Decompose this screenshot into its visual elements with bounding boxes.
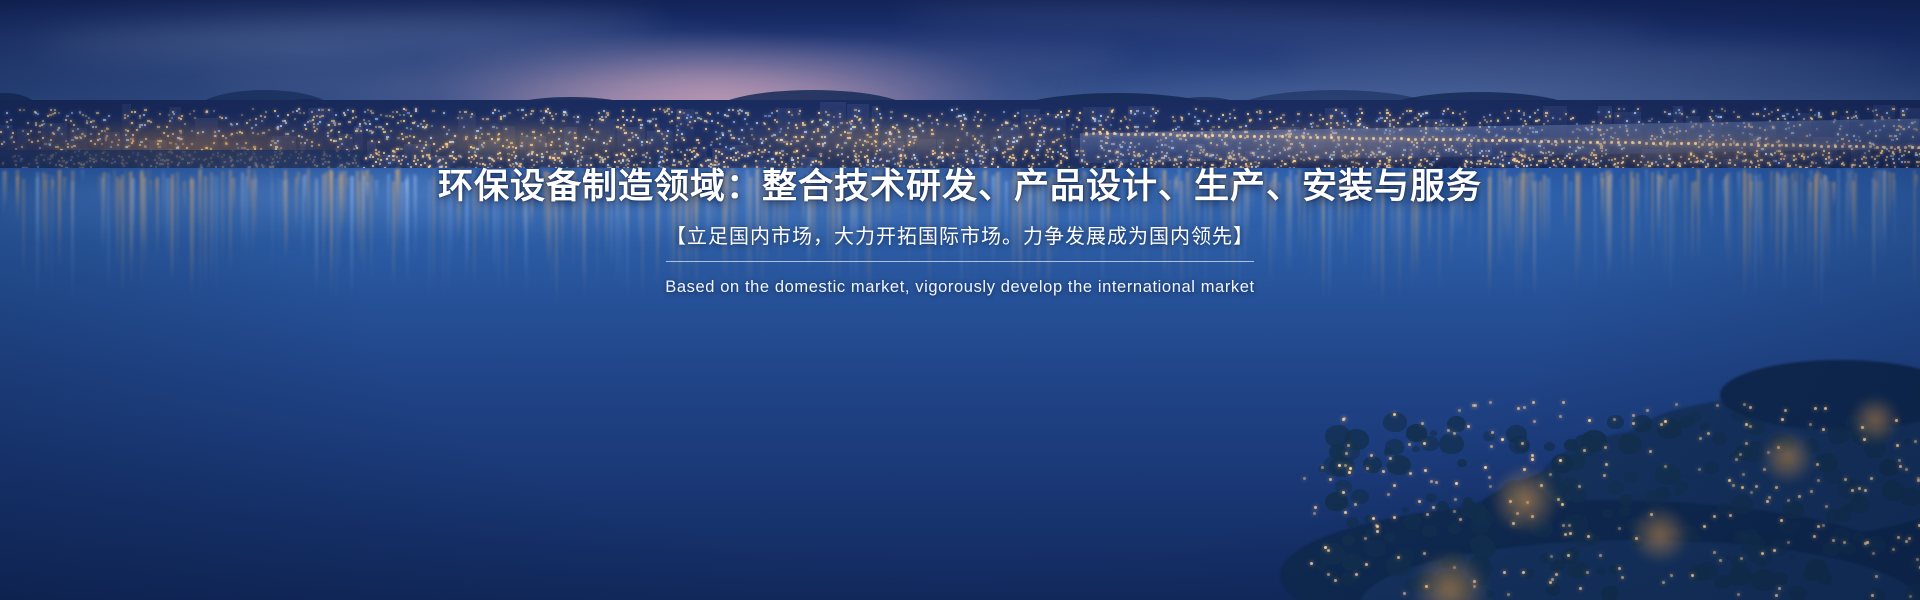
banner-subheadline: 【立足国内市场，大力开拓国际市场。力争发展成为国内领先】 [666, 225, 1254, 262]
hero-banner: 环保设备制造领域：整合技术研发、产品设计、生产、安装与服务 【立足国内市场，大力… [0, 0, 1920, 600]
banner-copy: 环保设备制造领域：整合技术研发、产品设计、生产、安装与服务 【立足国内市场，大力… [0, 0, 1920, 600]
banner-headline: 环保设备制造领域：整合技术研发、产品设计、生产、安装与服务 [438, 166, 1482, 207]
banner-english-tagline: Based on the domestic market, vigorously… [665, 278, 1255, 297]
